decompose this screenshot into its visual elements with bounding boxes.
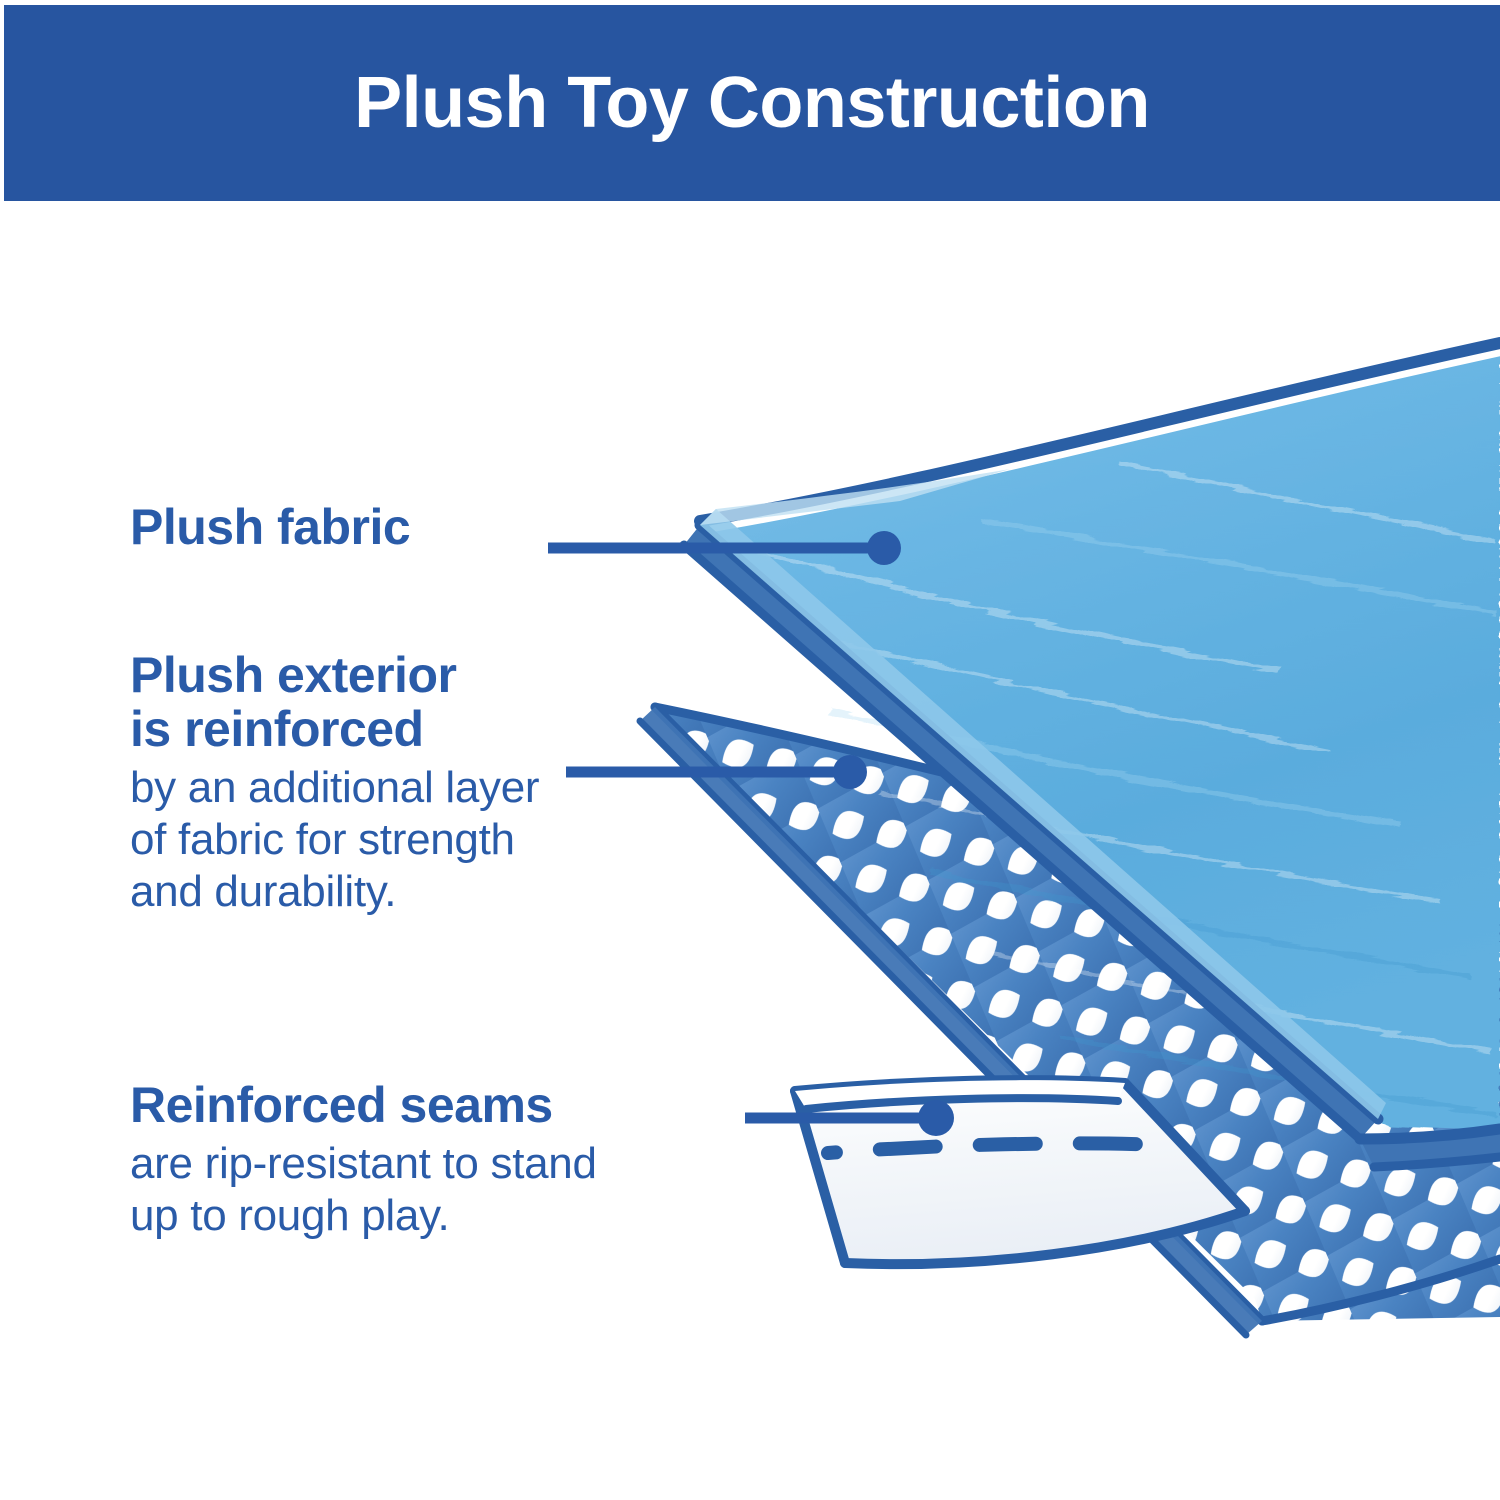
page-title: Plush Toy Construction <box>354 67 1150 139</box>
callout-heading-plush-exterior: Plush exterior is reinforced <box>130 648 539 756</box>
callout-plush-fabric: Plush fabric <box>130 500 410 554</box>
callout-plush-exterior: Plush exterior is reinforced by an addit… <box>130 648 539 918</box>
header-bar: Plush Toy Construction <box>4 5 1500 201</box>
callout-body-plush-exterior: by an additional layer of fabric for str… <box>130 762 539 918</box>
dot-reinforced-seams <box>918 1100 954 1136</box>
dot-plush-fabric <box>867 531 901 565</box>
callout-heading-plush-fabric: Plush fabric <box>130 500 410 554</box>
callout-heading-reinforced-seams: Reinforced seams <box>130 1078 597 1132</box>
dot-plush-exterior <box>833 755 867 789</box>
callout-body-reinforced-seams: are rip-resistant to stand up to rough p… <box>130 1138 597 1242</box>
callout-reinforced-seams: Reinforced seams are rip-resistant to st… <box>130 1078 597 1242</box>
infographic-page: Plush Toy Construction <box>0 0 1500 1500</box>
